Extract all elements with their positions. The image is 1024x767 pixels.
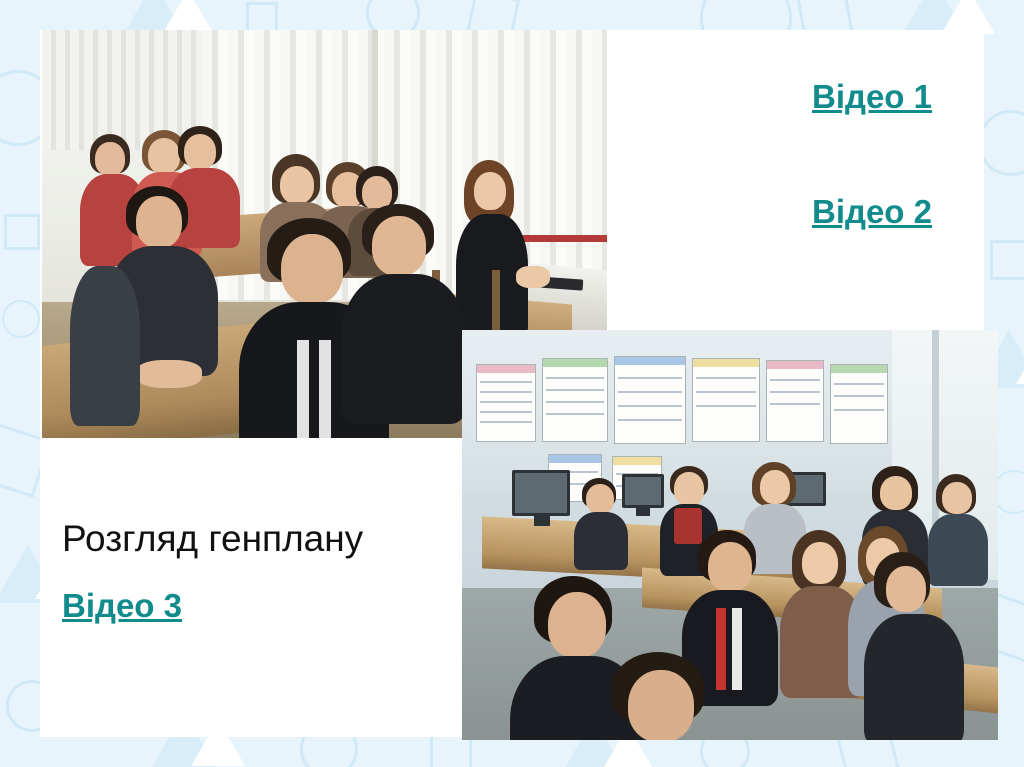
link-video-1[interactable]: Відео 1	[812, 78, 932, 116]
decor-circle-2	[2, 300, 40, 338]
link-video-2[interactable]: Відео 2	[812, 193, 932, 231]
decor-square-1	[4, 214, 40, 250]
slide-title: Розгляд генплану	[62, 518, 363, 560]
decor-square-6	[990, 240, 1024, 280]
slide-canvas: Відео 1 Відео 2 Розгляд генплану Відео 3	[0, 0, 1024, 767]
link-video-3[interactable]: Відео 3	[62, 587, 182, 625]
photo-classroom-computers	[462, 330, 998, 740]
